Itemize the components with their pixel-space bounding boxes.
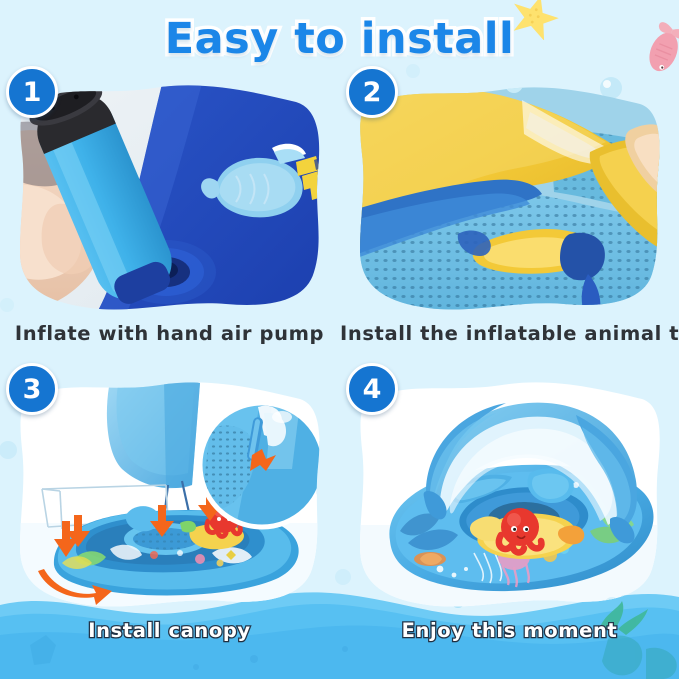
step-2-photo-wrap	[354, 76, 666, 318]
step-badge-4: 4	[346, 363, 398, 415]
step-3-photo-wrap	[14, 373, 326, 615]
step-1-photo	[14, 76, 326, 318]
step-badge-2: 2	[346, 66, 398, 118]
step-2-photo	[354, 76, 666, 318]
step-card-3[interactable]: 3 Install canopy	[0, 369, 339, 664]
step-badge-1: 1	[6, 66, 58, 118]
step-card-4[interactable]: 4 Enjoy this moment	[340, 369, 679, 664]
page-title: Easy to install	[165, 14, 515, 64]
step-3-photo	[14, 373, 326, 615]
step-4-photo	[354, 373, 666, 615]
step-caption-2: Install the inflatable animal toy	[340, 322, 679, 345]
steps-grid: 1 Inflate with hand air pump	[0, 72, 679, 662]
product-infographic: Easy to install	[0, 0, 679, 679]
step-1-photo-wrap	[14, 76, 326, 318]
step-card-1[interactable]: 1 Inflate with hand air pump	[0, 72, 339, 367]
step-caption-1: Inflate with hand air pump	[0, 322, 339, 345]
step-4-photo-wrap	[354, 373, 666, 615]
step-caption-4: Enjoy this moment	[340, 619, 679, 642]
step-card-2[interactable]: 2 Install the inflatable animal toy	[340, 72, 679, 367]
step-caption-3: Install canopy	[0, 619, 339, 642]
page-title-wrap: Easy to install	[0, 14, 679, 64]
step-badge-3: 3	[6, 363, 58, 415]
